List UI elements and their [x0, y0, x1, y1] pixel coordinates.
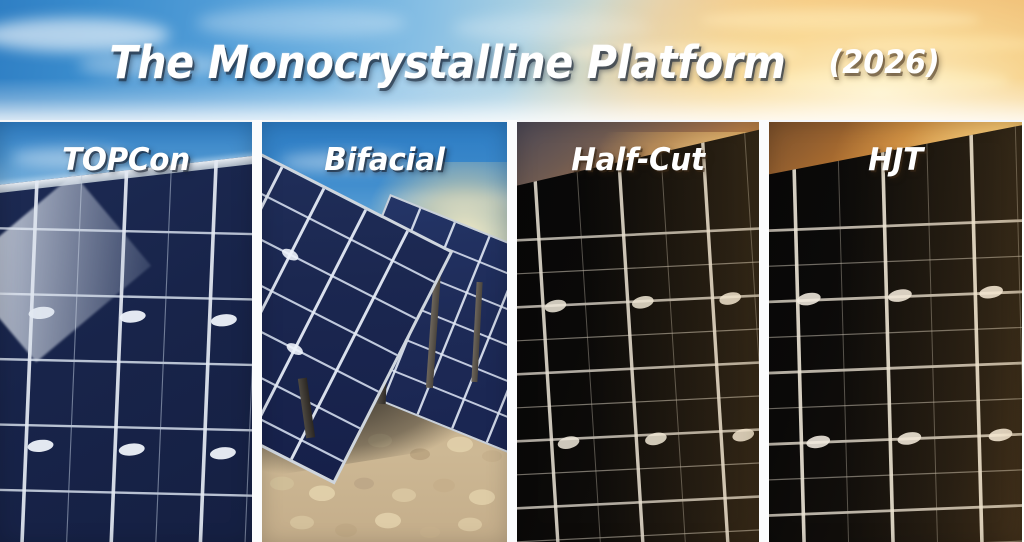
panel-divider — [507, 120, 517, 542]
half-cut-module — [517, 122, 759, 542]
tech-panel-topcon[interactable]: TOPCon — [0, 120, 252, 542]
hjt-photo — [769, 122, 1022, 542]
panel-divider — [252, 120, 262, 542]
tech-label-bifacial: Bifacial — [268, 142, 501, 178]
title-year-text: (2026) — [829, 43, 940, 81]
half-cut-photo — [517, 122, 759, 542]
tech-label-half-cut: Half-Cut — [523, 142, 753, 178]
tech-label-hjt: HJT — [775, 142, 1015, 178]
tech-label-topcon: TOPCon — [6, 142, 245, 178]
title-main-text: The Monocrystalline Platform — [110, 36, 786, 89]
header-sky-banner: The Monocrystalline Platform(2026) — [0, 0, 1024, 124]
cell-grid-icon — [769, 122, 1022, 542]
topcon-photo — [0, 122, 252, 542]
tech-panel-half-cut[interactable]: Half-Cut — [517, 120, 759, 542]
solar-technology-infographic: The Monocrystalline Platform(2026) — [0, 0, 1024, 542]
tech-panel-hjt[interactable]: HJT — [769, 120, 1022, 542]
tech-panel-bifacial[interactable]: Bifacial — [262, 120, 507, 542]
cell-grid-icon — [517, 122, 759, 542]
panel-divider — [759, 120, 769, 542]
hjt-module — [769, 122, 1022, 542]
page-title: The Monocrystalline Platform(2026) — [0, 0, 1024, 124]
technology-panel-strip: TOPCon — [0, 120, 1024, 542]
bifacial-photo — [262, 122, 507, 542]
